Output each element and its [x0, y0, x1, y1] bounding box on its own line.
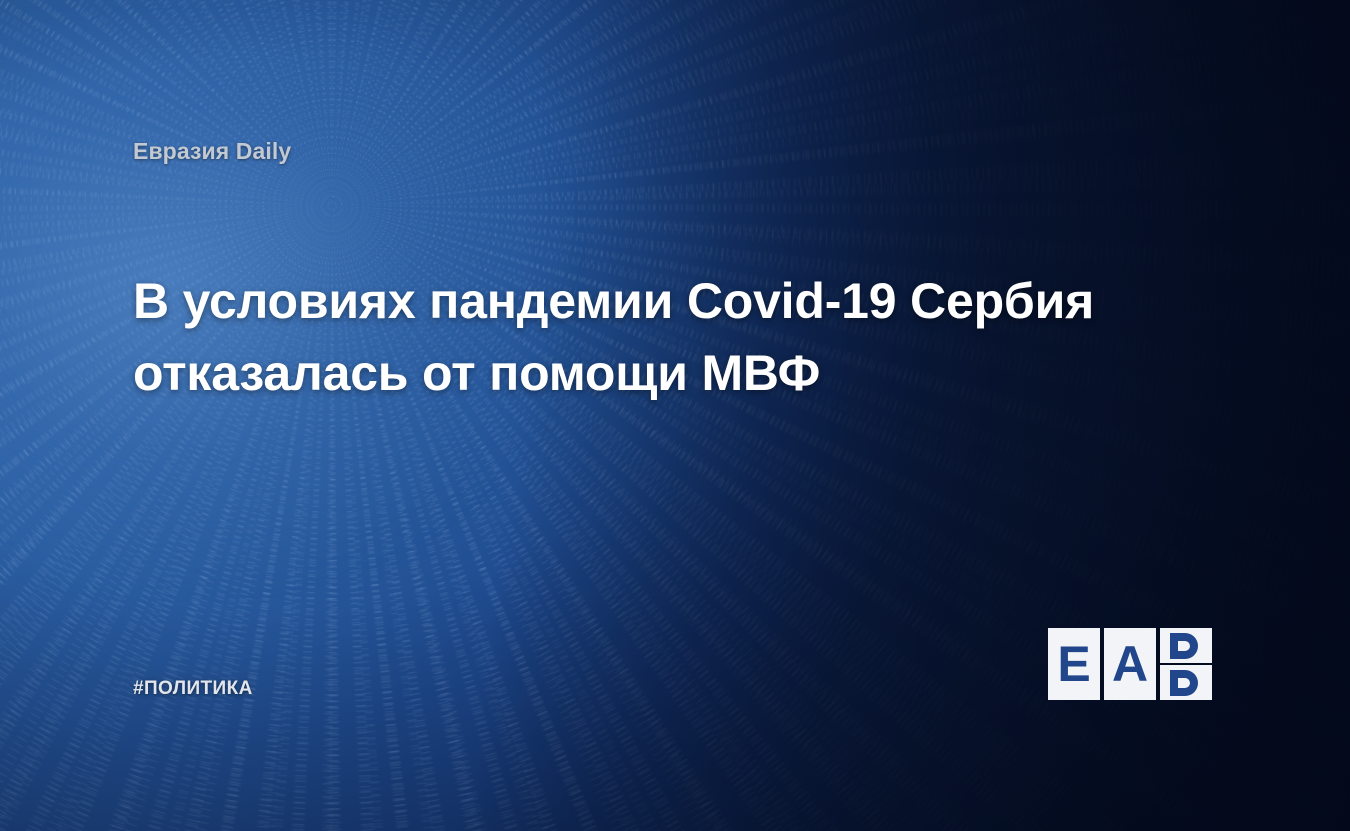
logo-tile-d-stack: [1160, 628, 1212, 700]
logo-tile-a: A: [1104, 628, 1156, 700]
card-content: Евразия Daily В условиях пандемии Covid-…: [0, 0, 1350, 831]
category-tag[interactable]: #ПОЛИТИКА: [133, 678, 253, 700]
letter-d-glyph-bottom: [1166, 668, 1206, 698]
logo-tile-d-bottom: [1160, 665, 1212, 700]
logo-tile-e: E: [1048, 628, 1100, 700]
logo-tile-d-top: [1160, 628, 1212, 663]
page-title: В условиях пандемии Covid-19 Сербия отка…: [133, 265, 1223, 409]
brand-name: Евразия Daily: [133, 138, 291, 165]
headline-line-2: отказалась от помощи МВФ: [133, 337, 1223, 409]
headline-line-1: В условиях пандемии Covid-19 Сербия: [133, 265, 1223, 337]
letter-d-glyph-top: [1166, 631, 1206, 661]
news-cover-card: Евразия Daily В условиях пандемии Covid-…: [0, 0, 1350, 831]
eadaily-logo[interactable]: E A: [1048, 628, 1212, 700]
